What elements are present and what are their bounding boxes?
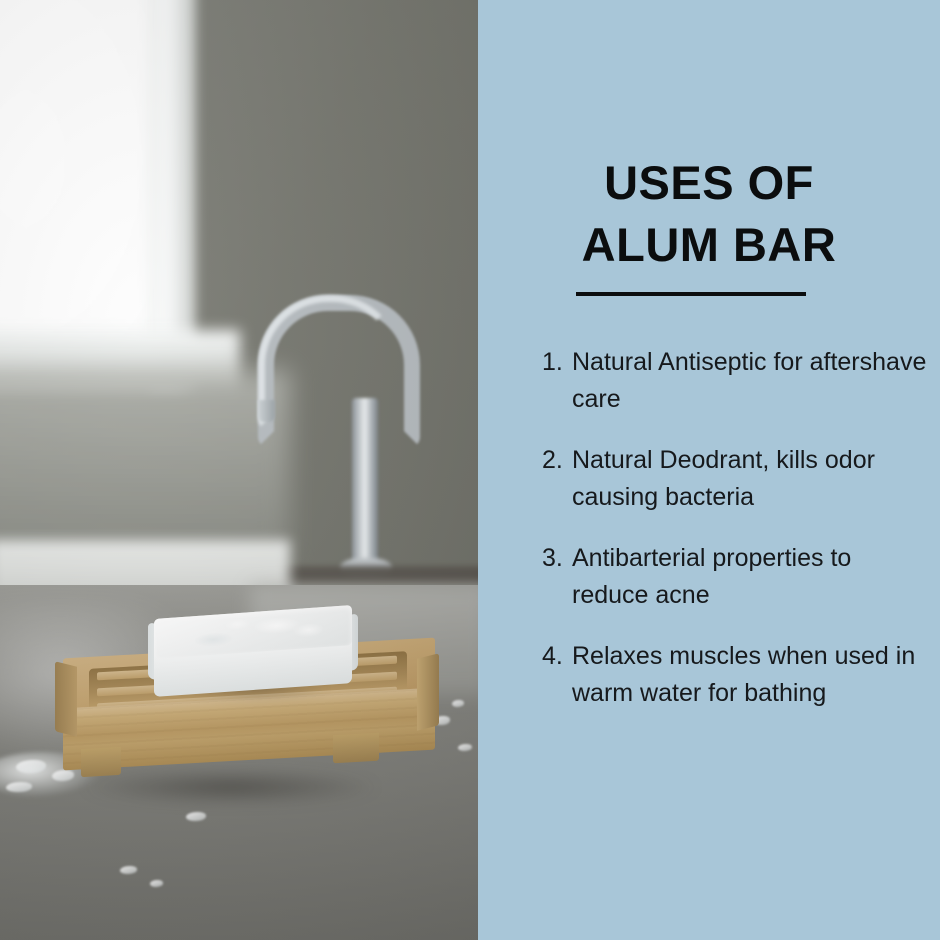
- list-item-number: 4.: [542, 638, 572, 675]
- list-item-text: Relaxes muscles when used in warm water …: [572, 638, 934, 712]
- list-item: 2. Natural Deodrant, kills odor causing …: [542, 442, 934, 516]
- alum-bar: [148, 612, 358, 690]
- wall-lower-glow: [0, 370, 290, 560]
- list-item-number: 3.: [542, 540, 572, 577]
- list-item-text: Natural Deodrant, kills odor causing bac…: [572, 442, 934, 516]
- dish-foot-right: [333, 733, 379, 764]
- faucet-column: [352, 398, 378, 573]
- title-line-2: ALUM BAR: [478, 214, 940, 276]
- dish-right-face: [417, 653, 439, 730]
- list-item-text: Natural Antiseptic for aftershave care: [572, 344, 934, 418]
- faucet-arc-highlight: [258, 295, 402, 429]
- list-item-number: 2.: [542, 442, 572, 479]
- info-panel: USES OF ALUM BAR 1. Natural Antiseptic f…: [478, 0, 940, 940]
- list-item: 4. Relaxes muscles when used in warm wat…: [542, 638, 934, 712]
- title-divider: [576, 292, 806, 296]
- dish-foot-left: [81, 747, 121, 777]
- list-item: 3. Antibarterial properties to reduce ac…: [542, 540, 934, 614]
- list-item-text: Antibarterial properties to reduce acne: [572, 540, 934, 614]
- product-photo: [0, 0, 478, 940]
- list-item: 1. Natural Antiseptic for aftershave car…: [542, 344, 934, 418]
- sink-rim: [260, 566, 478, 586]
- uses-list: 1. Natural Antiseptic for aftershave car…: [542, 344, 934, 736]
- poster-root: USES OF ALUM BAR 1. Natural Antiseptic f…: [0, 0, 940, 940]
- title-line-1: USES OF: [478, 152, 940, 214]
- dish-left-face: [55, 661, 77, 736]
- faucet-spout: [258, 400, 275, 422]
- page-title: USES OF ALUM BAR: [478, 152, 940, 276]
- list-item-number: 1.: [542, 344, 572, 381]
